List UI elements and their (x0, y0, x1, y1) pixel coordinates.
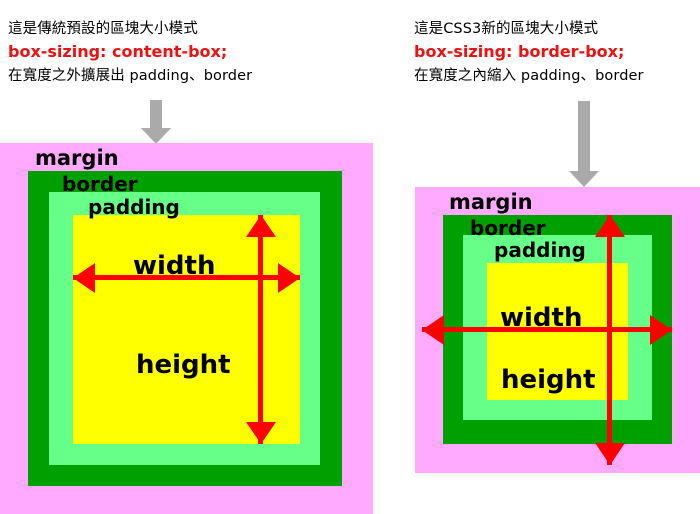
measure-arrowhead-left (73, 263, 95, 293)
arrow-head (141, 128, 171, 144)
border-box-padding-label: padding (494, 238, 586, 262)
content-box-content-layer (73, 215, 300, 444)
caption-content-box: 這是傳統預設的區塊大小模式 box-sizing: content-box; 在… (8, 18, 252, 88)
measure-bar-vertical (258, 215, 263, 444)
border-box-margin-label: margin (449, 190, 533, 214)
measure-arrowhead-right (650, 315, 672, 345)
caption-right-code: box-sizing: border-box; (414, 40, 644, 65)
measure-arrowhead-up (595, 215, 625, 237)
content-box-margin-label: margin (35, 146, 119, 170)
caption-left-line-1: 這是傳統預設的區塊大小模式 (8, 18, 252, 40)
caption-left-line-3: 在寬度之外擴展出 padding、border (8, 65, 252, 87)
caption-right-line-3: 在寬度之內縮入 padding、border (414, 65, 644, 87)
content-box-border-label: border (62, 172, 138, 196)
measure-arrowhead-right (278, 263, 300, 293)
measure-arrowhead-down (246, 422, 276, 444)
content-box-padding-label: padding (88, 195, 180, 219)
arrow-head (569, 171, 599, 187)
caption-left-code: box-sizing: content-box; (8, 40, 252, 65)
content-box-height-label: height (136, 350, 231, 380)
content-box-width-label: width (133, 251, 215, 281)
border-box-border-label: border (470, 216, 546, 240)
arrow-down-icon-left (141, 100, 171, 144)
arrow-shaft (150, 100, 162, 128)
measure-arrowhead-up (246, 215, 276, 237)
diagram-canvas: 這是傳統預設的區塊大小模式 box-sizing: content-box; 在… (0, 0, 700, 514)
arrow-shaft (578, 101, 590, 171)
caption-right-line-1: 這是CSS3新的區塊大小模式 (414, 18, 644, 40)
measure-bar-vertical (607, 215, 612, 465)
border-box-width-label: width (500, 303, 582, 333)
measure-arrowhead-down (595, 443, 625, 465)
border-box-height-label: height (501, 365, 596, 395)
arrow-down-icon-right (569, 101, 599, 187)
measure-arrowhead-left (422, 315, 444, 345)
caption-border-box: 這是CSS3新的區塊大小模式 box-sizing: border-box; 在… (414, 18, 644, 88)
